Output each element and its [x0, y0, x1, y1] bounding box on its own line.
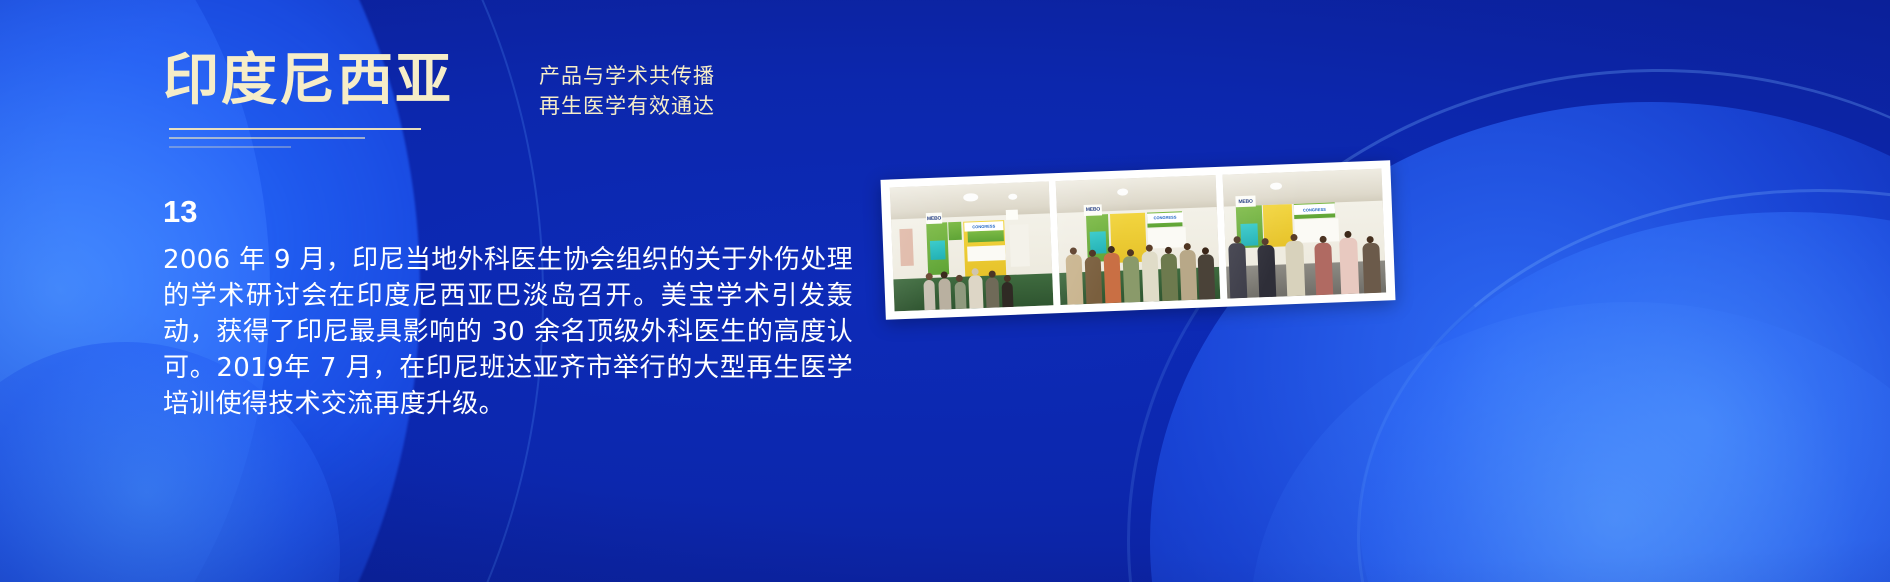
person — [938, 278, 952, 309]
mebo-logo-icon: MEBO — [1084, 204, 1102, 216]
congress-banner-icon: CONGRESS — [1147, 212, 1184, 223]
person — [954, 281, 966, 309]
person-head — [1344, 231, 1351, 238]
person-head — [1108, 246, 1115, 253]
photo-collage[interactable]: MEBO CONGRESS MEBO CONGRESS — [881, 160, 1396, 319]
title-rule-2 — [169, 137, 365, 139]
subtitle-line-1: 产品与学术共传播 — [539, 62, 715, 92]
booth-panel-white — [1294, 219, 1339, 243]
person — [1065, 255, 1083, 305]
person — [1161, 253, 1179, 301]
booth-panel-green — [968, 230, 1003, 242]
photo-seminar-audience[interactable]: MEBO CONGRESS — [890, 181, 1054, 311]
title-rule-3 — [169, 146, 291, 148]
person — [1002, 282, 1014, 307]
person — [924, 280, 936, 310]
person — [1339, 238, 1359, 294]
booth-panel-white — [1147, 227, 1186, 248]
person — [1285, 241, 1305, 296]
person-head — [1127, 249, 1134, 256]
person-head — [1367, 236, 1374, 243]
booth-panel-white — [967, 245, 1006, 261]
body-paragraph: 2006 年 9 月，印尼当地外科医生协会组织的关于外伤处理的学术研讨会在印度尼… — [163, 243, 853, 422]
header: 印度尼西亚 产品与学术共传播 再生医学有效通达 — [163, 52, 715, 122]
person-head — [1262, 238, 1269, 245]
person — [1123, 256, 1141, 302]
person-head — [1146, 245, 1153, 252]
person — [1084, 256, 1102, 304]
person-head — [1184, 243, 1191, 250]
floor-carpet — [1226, 260, 1386, 298]
person-head — [1319, 236, 1326, 243]
congress-banner-icon: CONGRESS — [1294, 204, 1336, 215]
person-head — [1069, 248, 1076, 255]
mebo-logo-icon: MEBO — [926, 213, 942, 225]
booth-panel-teal — [1240, 223, 1258, 246]
photo-handshake-booth[interactable]: MEBO CONGRESS — [1222, 169, 1386, 299]
title-rule-1 — [169, 128, 421, 130]
person-head — [1290, 234, 1297, 241]
person — [986, 278, 1000, 308]
subtitle-line-2: 再生医学有效通达 — [539, 92, 715, 122]
person-head — [1089, 250, 1096, 257]
person — [1257, 245, 1277, 298]
person — [1314, 242, 1334, 295]
photo-group-standing[interactable]: MEBO CONGRESS — [1056, 175, 1220, 305]
person — [1180, 250, 1198, 300]
booth-panel-green — [949, 222, 962, 240]
title-wrap: 印度尼西亚 — [163, 52, 453, 111]
mebo-logo-icon — [1005, 210, 1018, 220]
title-underline-rules — [169, 128, 421, 155]
item-number: 13 — [163, 196, 863, 227]
person-head — [1165, 247, 1172, 254]
person — [1198, 254, 1216, 299]
person — [1142, 252, 1160, 302]
person-head — [1233, 237, 1240, 244]
person-head — [988, 271, 995, 278]
page-title: 印度尼西亚 — [163, 52, 453, 111]
slide-root: 印度尼西亚 产品与学术共传播 再生医学有效通达 13 2006 年 9 月，印尼… — [0, 0, 1890, 582]
subtitle: 产品与学术共传播 再生医学有效通达 — [539, 62, 715, 122]
content-block: 13 2006 年 9 月，印尼当地外科医生协会组织的关于外伤处理的学术研讨会在… — [163, 196, 863, 422]
congress-banner-icon: CONGRESS — [965, 222, 1004, 232]
person — [1362, 243, 1381, 293]
mebo-logo-icon: MEBO — [1236, 196, 1256, 208]
person-head — [1202, 248, 1209, 255]
booth-panel-side — [1009, 224, 1030, 267]
person — [1103, 253, 1121, 303]
booth-panel-side — [899, 229, 913, 267]
booth-panel-teal — [930, 240, 945, 260]
person — [1228, 243, 1248, 298]
person — [968, 275, 984, 309]
